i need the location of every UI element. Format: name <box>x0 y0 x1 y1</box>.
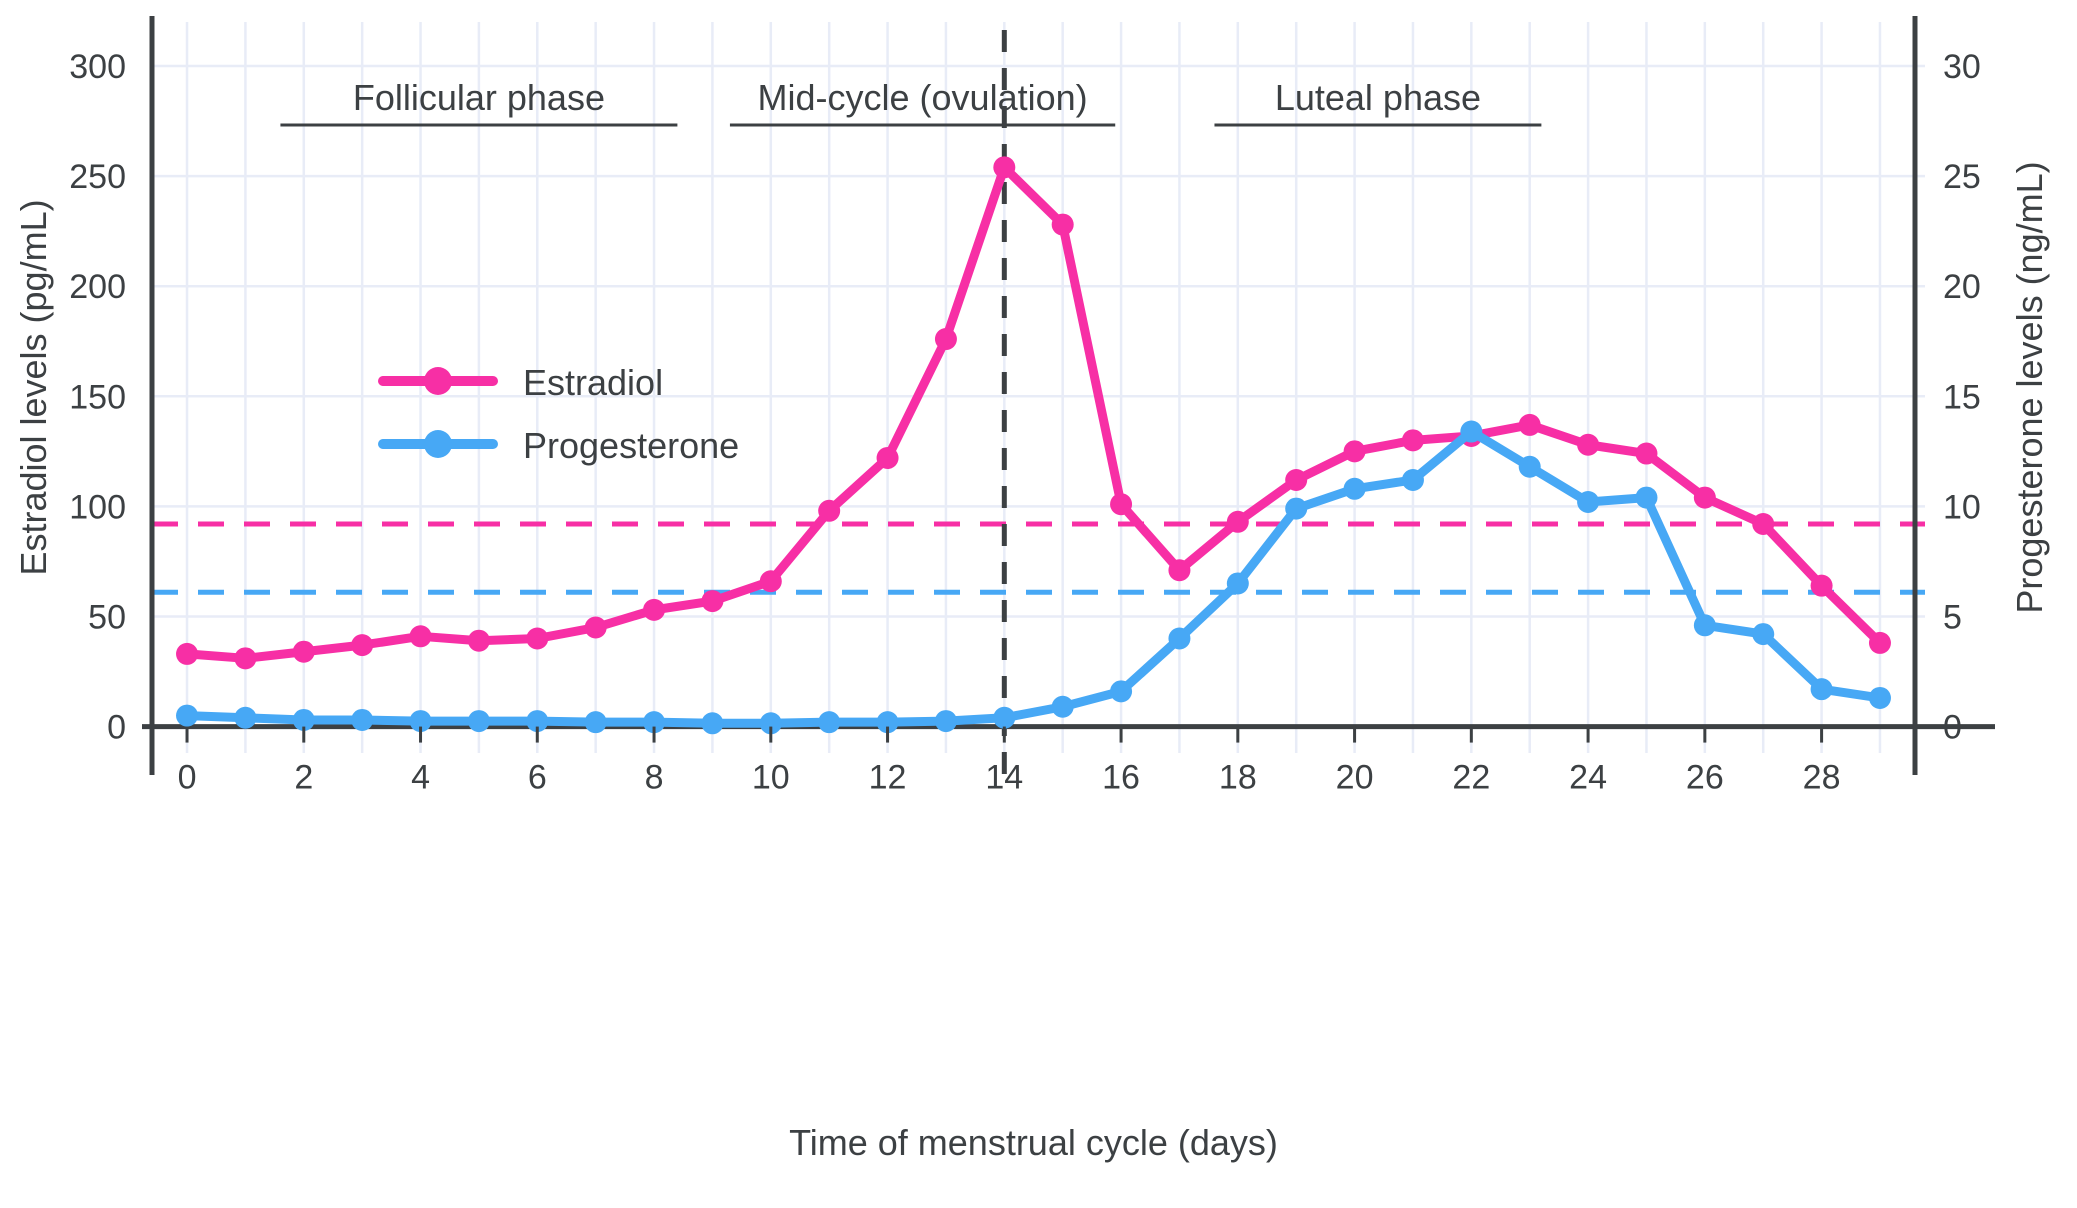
chart-page: Follicular phaseMid-cycle (ovulation)Lut… <box>0 0 2077 1208</box>
ytick-label-left: 300 <box>69 48 126 86</box>
xtick-label: 2 <box>294 759 313 797</box>
data-point <box>1285 498 1307 520</box>
data-point <box>818 711 840 733</box>
legend-label: Progesterone <box>523 425 739 466</box>
data-point <box>1635 443 1657 465</box>
data-point <box>1869 632 1891 654</box>
data-point <box>1402 429 1424 451</box>
data-point <box>1694 614 1716 636</box>
x-axis-title: Time of menstrual cycle (days) <box>789 1122 1278 1163</box>
data-point <box>351 709 373 731</box>
ytick-label-left: 200 <box>69 268 126 306</box>
ytick-label-left: 100 <box>69 488 126 526</box>
data-point <box>1460 421 1482 443</box>
xtick-label: 12 <box>869 759 907 797</box>
data-point <box>176 705 198 727</box>
data-point <box>1519 414 1541 436</box>
ytick-label-right: 0 <box>1943 709 1962 747</box>
legend-label: Estradiol <box>523 362 663 403</box>
data-point <box>234 707 256 729</box>
xtick-label: 28 <box>1803 759 1841 797</box>
ytick-label-right: 25 <box>1943 158 1981 196</box>
data-point <box>585 711 607 733</box>
xtick-label: 20 <box>1336 759 1374 797</box>
ytick-label-right: 15 <box>1943 378 1981 416</box>
data-point <box>351 634 373 656</box>
data-point <box>1635 487 1657 509</box>
data-point <box>1052 696 1074 718</box>
hormone-cycle-line-chart: Follicular phaseMid-cycle (ovulation)Lut… <box>0 0 2077 1208</box>
data-point <box>1752 623 1774 645</box>
xtick-label: 8 <box>645 759 664 797</box>
ytick-label-right: 30 <box>1943 48 1981 86</box>
data-point <box>176 643 198 665</box>
data-point <box>993 156 1015 178</box>
data-point <box>1519 456 1541 478</box>
data-point <box>1344 440 1366 462</box>
ytick-label-right: 5 <box>1943 598 1962 636</box>
data-point <box>818 500 840 522</box>
data-point <box>701 712 723 734</box>
legend-swatch-marker <box>424 367 452 395</box>
legend-swatch-marker <box>424 430 452 458</box>
data-point <box>234 647 256 669</box>
data-point <box>1168 559 1190 581</box>
xtick-label: 4 <box>411 759 430 797</box>
data-point <box>1110 680 1132 702</box>
phase-annotations-group: Follicular phaseMid-cycle (ovulation)Lut… <box>280 77 1541 125</box>
xtick-label: 14 <box>985 759 1023 797</box>
data-point <box>1577 434 1599 456</box>
data-point <box>468 710 490 732</box>
data-point <box>1110 493 1132 515</box>
data-point <box>1752 513 1774 535</box>
data-point <box>993 707 1015 729</box>
xtick-label: 26 <box>1686 759 1724 797</box>
ytick-label-left: 50 <box>88 598 126 636</box>
data-point <box>760 570 782 592</box>
ytick-label-left: 250 <box>69 158 126 196</box>
data-point <box>468 630 490 652</box>
xtick-label: 22 <box>1452 759 1490 797</box>
data-point <box>643 599 665 621</box>
phase-label-luteal-phase: Luteal phase <box>1275 77 1481 118</box>
y-axis-title-right: Progesterone levels (ng/mL) <box>2009 161 2050 613</box>
data-point <box>1577 491 1599 513</box>
data-point <box>1285 469 1307 491</box>
data-point <box>701 590 723 612</box>
phase-label-follicular-phase: Follicular phase <box>353 77 605 118</box>
data-point <box>585 617 607 639</box>
chart-background <box>0 0 2077 1208</box>
y-axis-title-left: Estradiol levels (pg/mL) <box>13 199 54 575</box>
data-point <box>410 625 432 647</box>
data-point <box>1052 214 1074 236</box>
xtick-label: 6 <box>528 759 547 797</box>
data-point <box>1227 511 1249 533</box>
data-point <box>293 641 315 663</box>
xtick-label: 10 <box>752 759 790 797</box>
data-point <box>1168 628 1190 650</box>
xtick-label: 16 <box>1102 759 1140 797</box>
data-point <box>1811 575 1833 597</box>
ytick-label-left: 150 <box>69 378 126 416</box>
data-point <box>1402 469 1424 491</box>
xtick-label: 18 <box>1219 759 1257 797</box>
data-point <box>1227 572 1249 594</box>
data-point <box>1869 687 1891 709</box>
data-point <box>935 710 957 732</box>
xtick-label: 0 <box>178 759 197 797</box>
data-point <box>1344 478 1366 500</box>
data-point <box>935 328 957 350</box>
data-point <box>526 628 548 650</box>
ytick-label-right: 10 <box>1943 488 1981 526</box>
xtick-label: 24 <box>1569 759 1607 797</box>
phase-label-mid-cycle-phase: Mid-cycle (ovulation) <box>758 77 1088 118</box>
ytick-label-right: 20 <box>1943 268 1981 306</box>
data-point <box>1811 678 1833 700</box>
data-point <box>1694 487 1716 509</box>
data-point <box>877 447 899 469</box>
ytick-label-left: 0 <box>107 709 126 747</box>
